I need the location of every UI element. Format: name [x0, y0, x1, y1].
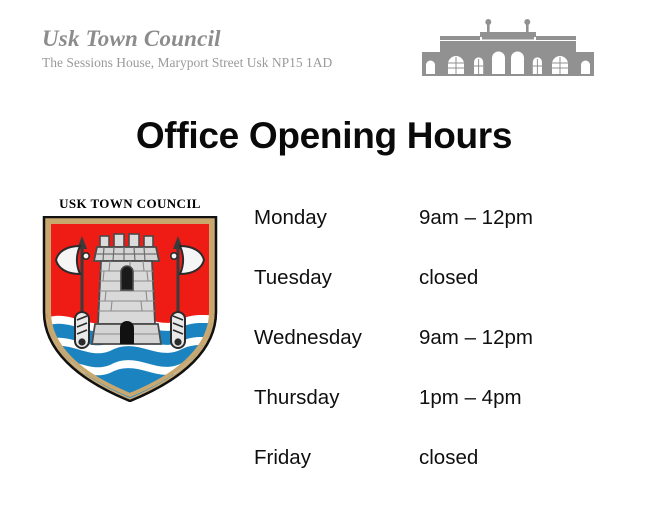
organisation-address: The Sessions House, Maryport Street Usk …	[42, 54, 402, 72]
hours-value: closed	[419, 266, 614, 290]
table-row: Tuesday closed	[254, 266, 614, 326]
sessions-house-building-icon	[422, 18, 594, 78]
hours-value: 9am – 12pm	[419, 206, 614, 230]
day-label: Tuesday	[254, 266, 419, 290]
crest-shield-icon	[42, 216, 218, 402]
day-label: Monday	[254, 206, 419, 230]
table-row: Friday closed	[254, 446, 614, 506]
page-title: Office Opening Hours	[0, 112, 648, 160]
day-label: Thursday	[254, 386, 419, 410]
table-row: Monday 9am – 12pm	[254, 206, 614, 266]
hours-value: 1pm – 4pm	[419, 386, 614, 410]
table-row: Wednesday 9am – 12pm	[254, 326, 614, 386]
day-label: Wednesday	[254, 326, 419, 350]
hours-value: closed	[419, 446, 614, 470]
organisation-name: Usk Town Council	[42, 26, 402, 52]
day-label: Friday	[254, 446, 419, 470]
castle-tower	[92, 234, 161, 344]
brand-block: Usk Town Council The Sessions House, Mar…	[42, 26, 402, 72]
table-row: Thursday 1pm – 4pm	[254, 386, 614, 446]
council-crest: USK TOWN COUNCIL	[34, 196, 226, 402]
opening-hours-table: Monday 9am – 12pm Tuesday closed Wednesd…	[254, 206, 614, 506]
letterhead-header: Usk Town Council The Sessions House, Mar…	[0, 0, 648, 92]
hours-value: 9am – 12pm	[419, 326, 614, 350]
crest-caption: USK TOWN COUNCIL	[34, 196, 226, 212]
